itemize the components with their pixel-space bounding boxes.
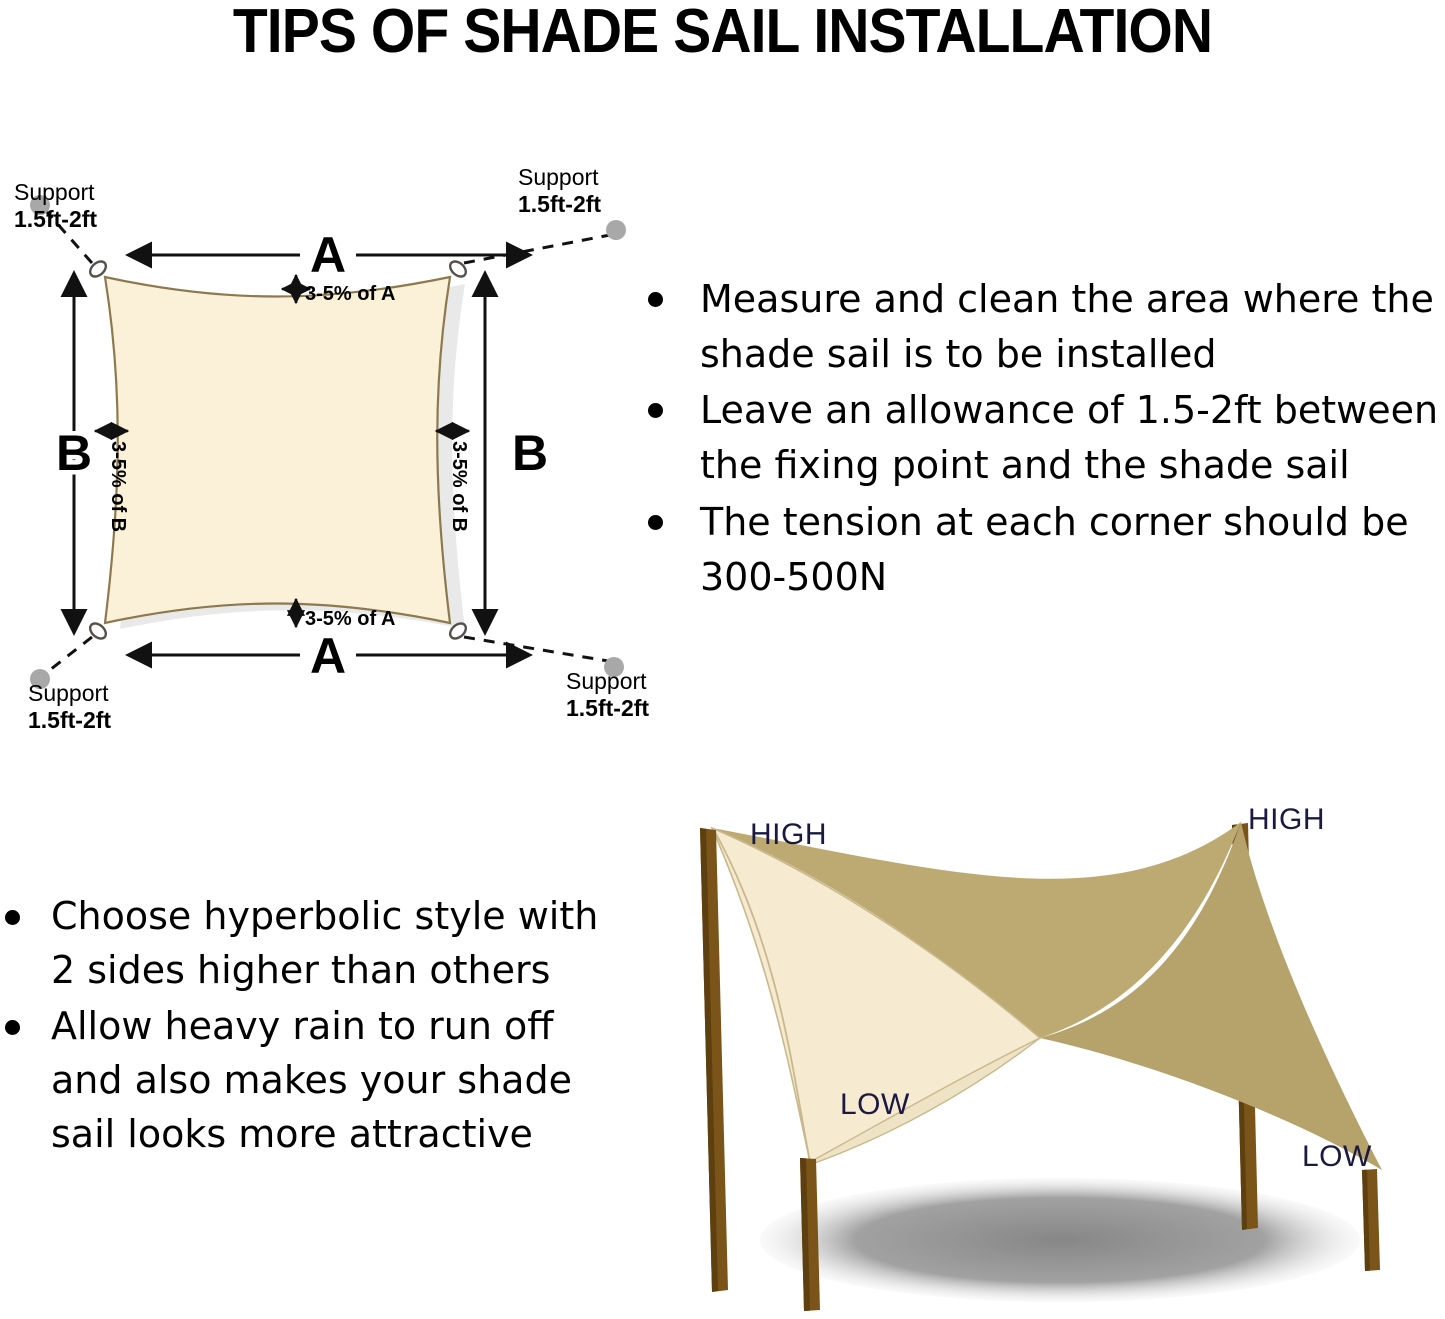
label-low-right: LOW: [1302, 1140, 1372, 1174]
support-label-top-right-line2: 1.5ft-2ft: [518, 191, 601, 217]
list-item-line: sail looks more attractive: [5, 1108, 625, 1162]
rect-sail-diagram: A 3-5% of A A 3-5% of A B: [0, 155, 650, 735]
dimension-label-b-right: B: [512, 425, 548, 481]
callout-label-3-5-a-top: 3-5% of A: [305, 283, 395, 305]
hyperbolic-sail-illustration: [640, 770, 1445, 1319]
page-title: TIPS OF SHADE SAIL INSTALLATION: [58, 0, 1387, 67]
bullet-dot-icon: [648, 515, 663, 530]
list-item-line: The tension at each corner should be: [648, 495, 1445, 550]
post-high-left: [700, 828, 728, 1292]
dimension-label-a-bottom: A: [310, 628, 346, 684]
support-label-top-right-line1: Support: [518, 164, 599, 190]
bullet-dot-icon: [5, 1020, 20, 1035]
callout-label-3-5-a-bottom: 3-5% of A: [305, 608, 395, 630]
shade-sail-shape: [105, 277, 450, 623]
support-label-top-left-line1: Support: [14, 179, 95, 205]
support-label-bottom-right-line2: 1.5ft-2ft: [566, 695, 649, 721]
support-label-bottom-right-line1: Support: [566, 668, 647, 694]
list-item: Leave an allowance of 1.5-2ft between th…: [648, 383, 1445, 492]
tips-list-top: Measure and clean the area where the sha…: [648, 272, 1445, 606]
label-high-left: HIGH: [750, 818, 827, 852]
list-item-line: and also makes your shade: [5, 1054, 625, 1108]
infographic-page: TIPS OF SHADE SAIL INSTALLATION: [0, 0, 1445, 1319]
list-item-line: Choose hyperbolic style with: [5, 890, 625, 944]
bullet-dot-icon: [5, 910, 20, 925]
support-label-bottom-left-line1: Support: [28, 680, 109, 706]
list-item-line: Leave an allowance of 1.5-2ft between: [648, 383, 1445, 438]
ground-shadow: [760, 1178, 1360, 1302]
list-item: Allow heavy rain to run off and also mak…: [5, 1000, 625, 1162]
list-item-line: shade sail is to be installed: [648, 327, 1445, 382]
post-low-right: [1362, 1169, 1380, 1271]
list-item-line: Measure and clean the area where the: [648, 272, 1445, 327]
list-item-line: Allow heavy rain to run off: [5, 1000, 625, 1054]
support-label-top-left-line2: 1.5ft-2ft: [14, 206, 97, 232]
label-low-left: LOW: [840, 1088, 910, 1122]
callout-label-3-5-b-right: 3-5% of B: [448, 441, 470, 532]
callout-label-3-5-b-left: 3-5% of B: [107, 441, 129, 532]
list-item: Choose hyperbolic style with 2 sides hig…: [5, 890, 625, 998]
bullet-dot-icon: [648, 292, 663, 307]
list-item-line: the fixing point and the shade sail: [648, 438, 1445, 493]
list-item-line: 300-500N: [648, 550, 1445, 605]
list-item: The tension at each corner should be 300…: [648, 495, 1445, 604]
post-low-left: [800, 1158, 820, 1311]
list-item-line: 2 sides higher than others: [5, 944, 625, 998]
label-high-right: HIGH: [1248, 803, 1325, 837]
dimension-label-a-top: A: [310, 227, 346, 283]
support-label-bottom-left-line2: 1.5ft-2ft: [28, 707, 111, 733]
tips-list-bottom: Choose hyperbolic style with 2 sides hig…: [5, 890, 625, 1164]
list-item: Measure and clean the area where the sha…: [648, 272, 1445, 381]
dimension-label-b-left: B: [56, 425, 92, 481]
